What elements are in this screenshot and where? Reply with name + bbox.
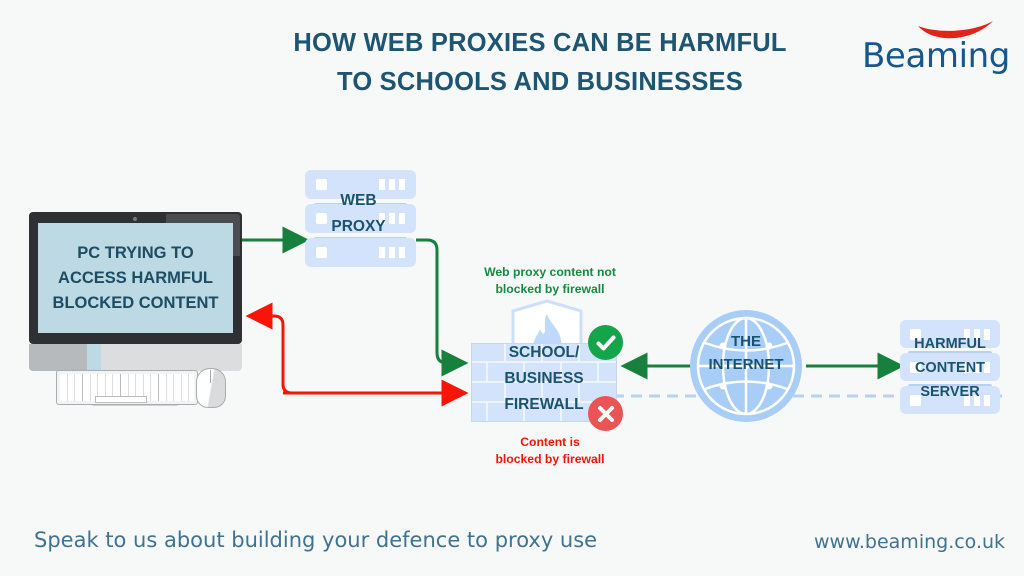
annotation-blocked-line-1: Content is xyxy=(457,434,643,451)
harmful-label-line-2: CONTENT xyxy=(898,356,1002,380)
proxy-slab-bottom xyxy=(305,238,416,267)
internet-label-line-1: THE xyxy=(688,330,804,353)
harmful-label-line-1: HARMFUL xyxy=(898,332,1002,356)
monitor-chin-accent xyxy=(87,344,101,371)
web-proxy-label: WEB PROXY xyxy=(303,188,414,240)
monitor-bezel: PC TRYING TO ACCESS HARMFUL BLOCKED CONT… xyxy=(29,212,242,344)
footer-website-link[interactable]: www.beaming.co.uk xyxy=(814,531,1005,553)
web-proxy-label-line-2: PROXY xyxy=(303,214,414,240)
harmful-content-server-label: HARMFUL CONTENT SERVER xyxy=(898,332,1002,404)
harmful-label-line-3: SERVER xyxy=(898,380,1002,404)
monitor-line-3: BLOCKED CONTENT xyxy=(53,294,219,312)
keyboard-spacebar xyxy=(95,396,147,403)
mouse-icon xyxy=(196,368,226,408)
monitor-screen-text: PC TRYING TO ACCESS HARMFUL BLOCKED CONT… xyxy=(53,241,219,316)
monitor-line-1: PC TRYING TO xyxy=(77,244,193,262)
internet-label: THE INTERNET xyxy=(688,330,804,376)
annotation-allowed-line-2: blocked by firewall xyxy=(452,281,648,298)
proxy-led-icon-3 xyxy=(316,247,327,258)
proxy-vents-icon-3 xyxy=(379,247,405,258)
annotation-blocked: Content is blocked by firewall xyxy=(457,434,643,468)
allowed-check-icon xyxy=(588,325,623,360)
web-proxy-label-line-1: WEB xyxy=(303,188,414,214)
infographic-canvas: HOW WEB PROXIES CAN BE HARMFUL TO SCHOOL… xyxy=(0,0,1024,576)
monitor-chin-shadow xyxy=(29,344,87,371)
annotation-allowed: Web proxy content not blocked by firewal… xyxy=(452,264,648,298)
footer-tagline: Speak to us about building your defence … xyxy=(34,528,597,552)
mouse-button-divider xyxy=(210,370,211,383)
internet-label-line-2: INTERNET xyxy=(688,353,804,376)
blocked-cross-icon xyxy=(588,396,623,431)
keyboard-icon xyxy=(56,370,198,405)
firewall-label-line-2: BUSINESS xyxy=(471,366,617,392)
flow-blocked-to-pc xyxy=(250,316,466,393)
monitor-line-2: ACCESS HARMFUL xyxy=(58,269,213,287)
flow-proxy-to-firewall xyxy=(416,240,464,363)
webcam-icon xyxy=(133,217,137,221)
monitor-screen: PC TRYING TO ACCESS HARMFUL BLOCKED CONT… xyxy=(38,223,233,333)
annotation-blocked-line-2: blocked by firewall xyxy=(457,451,643,468)
annotation-allowed-line-1: Web proxy content not xyxy=(452,264,648,281)
